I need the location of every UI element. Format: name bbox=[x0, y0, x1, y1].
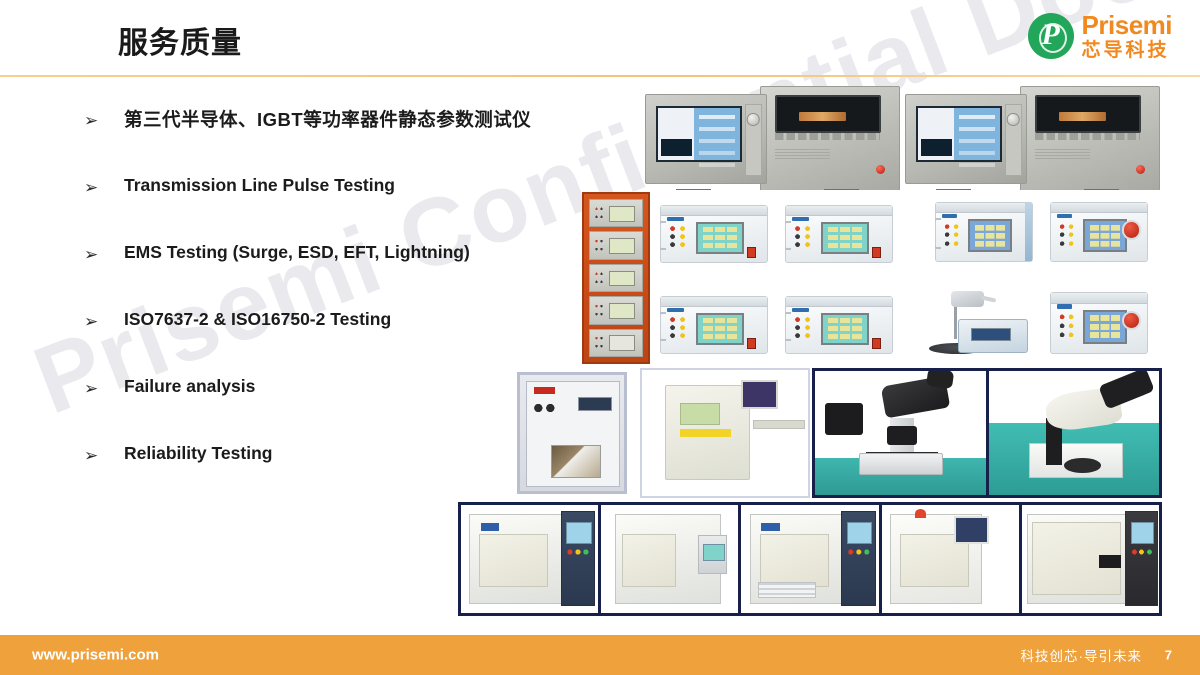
arrow-bullet-icon: ➢ bbox=[84, 242, 124, 265]
temperature-humidity-chamber-photo bbox=[741, 505, 878, 613]
curve-tracer-illustration bbox=[905, 86, 1160, 190]
prisemi-p-logo-icon: P bbox=[1028, 13, 1074, 59]
metallurgical-microscope-photo bbox=[815, 371, 986, 495]
page-title: 服务质量 bbox=[118, 18, 242, 62]
bullet-list: ➢ 第三代半导体、IGBT等功率器件静态参数测试仪 ➢ Transmission… bbox=[84, 108, 604, 510]
footer-slogan: 科技创芯·导引未来 bbox=[1021, 645, 1143, 665]
tlp-generator-photo-3 bbox=[660, 296, 768, 354]
company-logo: P Prisemi 芯导科技 bbox=[1028, 12, 1172, 60]
esd-gun-photo bbox=[920, 290, 1030, 360]
logo-name-cn: 芯导科技 bbox=[1082, 41, 1172, 60]
list-item: ➢ Transmission Line Pulse Testing bbox=[84, 175, 604, 242]
arrow-bullet-icon: ➢ bbox=[84, 376, 124, 399]
list-item: ➢ ISO7637-2 & ISO16750-2 Testing bbox=[84, 309, 604, 376]
bullet-label: EMS Testing (Surge, ESD, EFT, Lightning) bbox=[124, 242, 470, 264]
footer-website-link[interactable]: www.prisemi.com bbox=[32, 647, 159, 664]
bullet-label: Reliability Testing bbox=[124, 443, 272, 465]
stereo-microscope-photo bbox=[989, 371, 1160, 495]
surge-generator-photo-2 bbox=[1050, 202, 1148, 262]
bullet-label: ISO7637-2 & ISO16750-2 Testing bbox=[124, 309, 391, 331]
generator-illustration bbox=[1050, 202, 1148, 262]
list-item: ➢ Failure analysis bbox=[84, 376, 604, 443]
generator-illustration bbox=[660, 205, 768, 263]
bullet-label: Transmission Line Pulse Testing bbox=[124, 175, 395, 197]
tlp-generator-photo-2 bbox=[785, 205, 893, 263]
slide-footer: www.prisemi.com 科技创芯·导引未来 7 bbox=[0, 635, 1200, 675]
high-temperature-oven-photo bbox=[1022, 505, 1159, 613]
generator-illustration bbox=[785, 296, 893, 354]
slide-header: 服务质量 bbox=[0, 0, 1200, 76]
bullet-label: Failure analysis bbox=[124, 376, 255, 398]
generator-illustration bbox=[1050, 292, 1148, 354]
lightning-generator-photo bbox=[1050, 292, 1148, 354]
list-item: ➢ EMS Testing (Surge, ESD, EFT, Lightnin… bbox=[84, 242, 604, 309]
reliability-chamber-photo-group bbox=[458, 502, 1162, 616]
arrow-bullet-icon: ➢ bbox=[84, 443, 124, 466]
surge-generator-photo-1 bbox=[935, 202, 1033, 262]
curve-tracer-photo-1 bbox=[645, 86, 900, 190]
curve-tracer-illustration bbox=[645, 86, 900, 190]
list-item: ➢ 第三代半导体、IGBT等功率器件静态参数测试仪 bbox=[84, 108, 604, 175]
arrow-bullet-icon: ➢ bbox=[84, 108, 124, 131]
arrow-bullet-icon: ➢ bbox=[84, 309, 124, 332]
microscope-photo-group bbox=[812, 368, 1162, 498]
bullet-label: 第三代半导体、IGBT等功率器件静态参数测试仪 bbox=[124, 108, 531, 131]
tlp-generator-photo-4 bbox=[785, 296, 893, 354]
logo-name-en: Prisemi bbox=[1082, 12, 1172, 38]
generator-illustration bbox=[660, 296, 768, 354]
page-number: 7 bbox=[1165, 648, 1172, 663]
curve-tracer-photo-2 bbox=[905, 86, 1160, 190]
list-item: ➢ Reliability Testing bbox=[84, 443, 604, 510]
header-divider bbox=[0, 75, 1200, 77]
generator-illustration bbox=[935, 202, 1033, 262]
tlp-generator-photo-1 bbox=[660, 205, 768, 263]
arrow-bullet-icon: ➢ bbox=[84, 175, 124, 198]
autoclave-chamber-photo bbox=[461, 505, 598, 613]
slide: Prisemi Confidential Document bbox=[0, 0, 1200, 675]
cleanroom-equipment-photo bbox=[640, 368, 810, 498]
thermal-shock-chamber-photo bbox=[601, 505, 738, 613]
hast-chamber-photo bbox=[882, 505, 1019, 613]
generator-illustration bbox=[785, 205, 893, 263]
